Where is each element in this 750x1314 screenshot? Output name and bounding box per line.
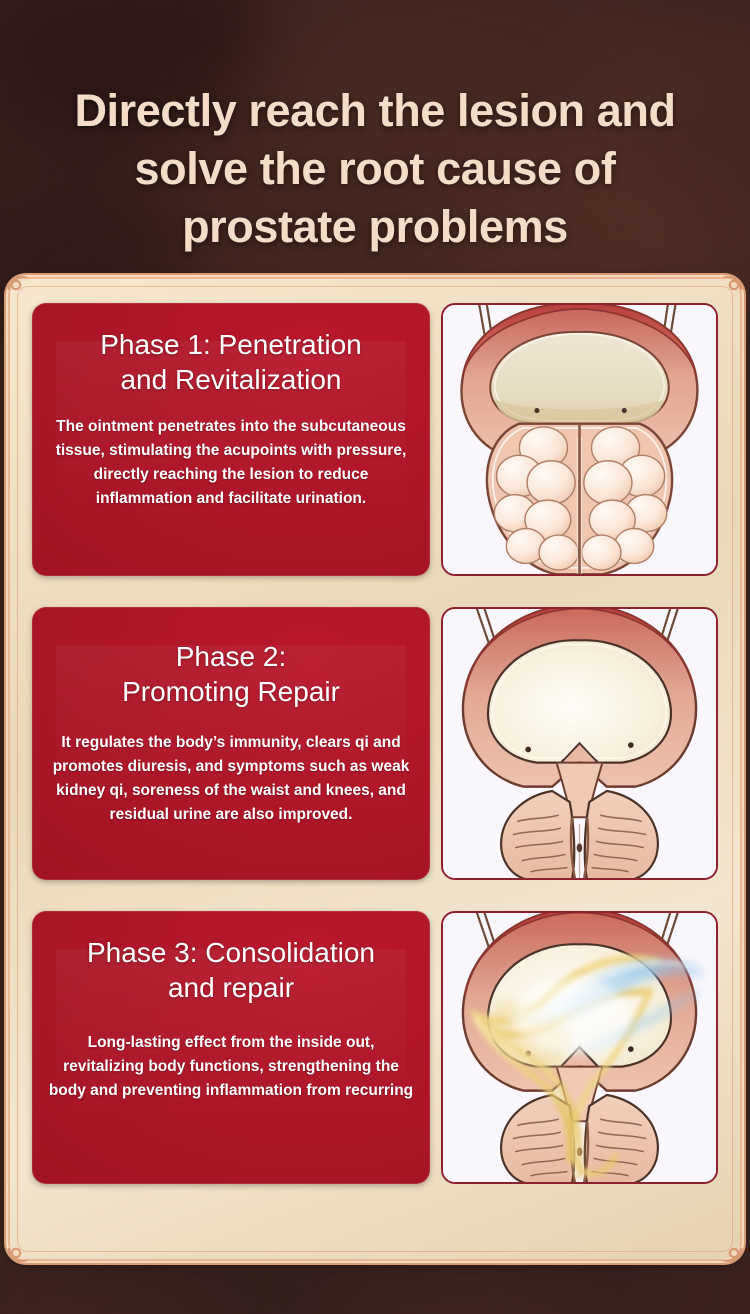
- ornate-frame: Phase 1: Penetration and Revitalization …: [10, 279, 740, 1259]
- phase-row-1: Phase 1: Penetration and Revitalization …: [32, 303, 718, 576]
- phase-card-2: Phase 2: Promoting Repair It regulates t…: [32, 607, 430, 880]
- phase-card-1-title: Phase 1: Penetration and Revitalization: [46, 327, 416, 397]
- phase-card-3: Phase 3: Consolidation and repair Long-l…: [32, 911, 430, 1184]
- phase-row-2: Phase 2: Promoting Repair It regulates t…: [32, 607, 718, 880]
- phase-card-2-body: It regulates the body’s immunity, clears…: [46, 731, 416, 827]
- phase-row-3: Phase 3: Consolidation and repair Long-l…: [32, 911, 718, 1184]
- phase-card-2-title: Phase 2: Promoting Repair: [46, 631, 416, 709]
- phase-card-3-body: Long-lasting effect from the inside out,…: [46, 1031, 416, 1103]
- page-headline: Directly reach the lesion and solve the …: [0, 82, 750, 256]
- enlarged-prostate-illustration: [441, 303, 718, 576]
- normal-prostate-illustration: [441, 607, 718, 880]
- headline-line-1: Directly reach the lesion and: [0, 82, 750, 140]
- phase-card-1-title-line-1: Phase 1: Penetration: [100, 329, 362, 360]
- phase-card-3-title-line-2: and repair: [168, 972, 294, 1003]
- phase-card-2-title-line-2: Promoting Repair: [122, 676, 340, 707]
- phase-list: Phase 1: Penetration and Revitalization …: [32, 303, 718, 1235]
- phase-card-1: Phase 1: Penetration and Revitalization …: [32, 303, 430, 576]
- phase-card-3-title-line-1: Phase 3: Consolidation: [87, 937, 375, 968]
- healing-energy-prostate-illustration: [441, 911, 718, 1184]
- phase-card-2-title-line-1: Phase 2:: [176, 641, 287, 672]
- phase-card-1-body: The ointment penetrates into the subcuta…: [46, 415, 416, 511]
- headline-line-2: solve the root cause of: [0, 140, 750, 198]
- phase-card-3-title: Phase 3: Consolidation and repair: [46, 935, 416, 1005]
- promo-page: Directly reach the lesion and solve the …: [0, 0, 750, 1314]
- phase-card-1-title-line-2: and Revitalization: [120, 364, 341, 395]
- headline-line-3: prostate problems: [0, 198, 750, 256]
